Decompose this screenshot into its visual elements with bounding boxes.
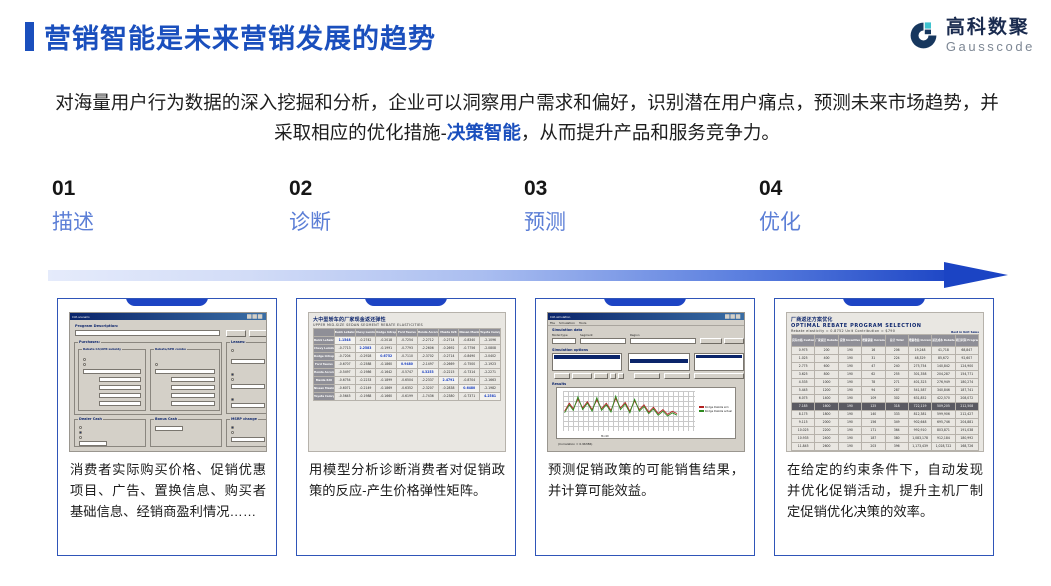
optimization-table-body: 0.9752001901620619,24841,71868,847 1.025…	[792, 347, 979, 453]
opt-cell: 190	[838, 387, 861, 395]
opt-cell: 140,842	[932, 363, 955, 371]
add-button[interactable]	[554, 373, 570, 379]
select-region[interactable]	[630, 338, 696, 344]
opt-cell: 541,587	[908, 387, 931, 395]
opt-cell: 422,570	[932, 395, 955, 403]
card-02-screenshot: 大中型轿车的厂家现金返还弹性 UPPER MID-SIZE SEDAN SEGM…	[308, 312, 506, 452]
opt-cell: 364	[885, 427, 908, 435]
opt-cell: 4.535	[792, 379, 815, 387]
opt-cell: 695,746	[932, 419, 955, 427]
table-row: Mazda 626 -0.6754 -0.2233 -0.1899 -0.650…	[314, 377, 501, 385]
matrix-cell: -0.7371	[459, 393, 480, 401]
opt-col-6: 返还成本 Rebate Cost	[932, 335, 955, 347]
group-purchases-label: Purchases:	[78, 340, 101, 344]
page-title: 营销智能是未来营销发展的趋势	[44, 17, 436, 56]
opt-cell: 187	[862, 435, 885, 443]
matrix-cell: -2.1923	[480, 361, 501, 369]
table-row: 10.0252200190171364992,910803,871191,038	[792, 427, 979, 435]
opt-cell: 92,607	[955, 355, 978, 363]
optimization-table-wrap: 厂商返还方案优化 OPTIMAL REBATE PROGRAM SELECTIO…	[787, 313, 983, 451]
opt-cell: 218	[862, 451, 885, 453]
opt-cell: 812,381	[908, 411, 931, 419]
table-row: 4.535100019078271401,323276,949180,274	[792, 379, 979, 387]
opt-cell: 2200	[815, 427, 838, 435]
opt-cell: 5.445	[792, 387, 815, 395]
opt-cell: 411	[885, 451, 908, 453]
matrix-cell: -0.7254	[397, 337, 418, 345]
opt-cell: 1800	[815, 411, 838, 419]
table-row: 3.62580019062255301,358204,287154,771	[792, 371, 979, 379]
matrix-col-0: Buick LeSabre	[334, 329, 355, 337]
matrix-cell: -0.5747	[397, 369, 418, 377]
opt-cell: 1,173,439	[908, 443, 931, 451]
opt-col-5: 增量收益 Incremental Contribution	[908, 335, 931, 347]
card-01-screenshot: CVA scenario Program Description: Purcha…	[69, 312, 267, 452]
opt-cell: 78	[862, 379, 885, 387]
opt-cell: 302	[885, 395, 908, 403]
group-leases: Leases:	[226, 342, 267, 414]
opt-subtitle: Rebate elasticity = 0.8752 Unit Contribu…	[791, 329, 895, 333]
card-03-caption: 预测促销政策的可能销售结果，并计算可能效益。	[548, 459, 744, 501]
optimization-table: 实际价格 Customer Price 厂家返还 Rebate $ 贷款 Inc…	[791, 334, 979, 452]
matrix-header-row: Buick LeSabre Chevy Lumina Dodge Intrepi…	[314, 329, 501, 337]
opt-cell: 156	[862, 419, 885, 427]
opt-col-2: 贷款 Incentive	[838, 335, 861, 347]
opt-cell: 400	[815, 355, 838, 363]
opt-cell: 340,846	[932, 387, 955, 395]
move-down-button[interactable]	[618, 373, 624, 379]
opt-cell: 190	[838, 443, 861, 451]
opt-cell: 109	[862, 395, 885, 403]
opt-cell: 333	[885, 411, 908, 419]
select-lease-cash[interactable]	[231, 359, 265, 364]
label-simulation-options: Simulation options	[552, 348, 588, 352]
matrix-cell: -0.7314	[459, 369, 480, 377]
opt-cell: 10.025	[792, 427, 815, 435]
list-model-item[interactable]	[630, 364, 688, 367]
table-row: 11.84526001902033961,173,4391,028,722168…	[792, 443, 979, 451]
opt-cell: 255	[885, 371, 908, 379]
opt-cell: 31	[862, 355, 885, 363]
card-02-caption: 用模型分析诊断消费者对促销政策的反应-产生价格弹性矩阵。	[309, 459, 505, 501]
matrix-col-3: Ford Taurus	[397, 329, 418, 337]
list-scenarios[interactable]	[552, 353, 622, 371]
opt-cell: 631,852	[908, 395, 931, 403]
matrix-cell: -2.1663	[480, 377, 501, 385]
title-accent-bar	[25, 22, 34, 51]
select-msrp-value[interactable]	[231, 437, 265, 442]
matrix-cell: -0.6504	[397, 377, 418, 385]
matrix-cell: -0.1869	[376, 385, 397, 393]
select-60mo[interactable]	[99, 401, 141, 406]
opt-cell: 1,151,017	[932, 451, 955, 453]
group-msrp-label: MSRP change	[230, 417, 258, 421]
matrix-cell: -0.2149	[355, 385, 376, 393]
menu-tools[interactable]: Tools	[579, 321, 586, 325]
select-rate-value[interactable]	[231, 384, 265, 389]
matrix-cell: -2.0402	[480, 353, 501, 361]
arrow-head-icon	[944, 262, 1008, 288]
select-segment[interactable]	[580, 338, 626, 344]
select-bonus-cash-amount[interactable]	[155, 426, 183, 431]
move-up-button[interactable]	[610, 373, 616, 379]
select-model-type[interactable]	[552, 338, 576, 344]
select-combo-amount[interactable]	[155, 369, 215, 374]
opt-col-3: 增量销量 Incremental	[862, 335, 885, 347]
matrix-row-label: Honda Accord	[314, 369, 335, 377]
opt-cell: 41,718	[932, 347, 955, 355]
radio-msrp-amount[interactable]	[231, 426, 234, 429]
matrix-cell: -0.1660	[376, 393, 397, 401]
opt-cell: 11.845	[792, 443, 815, 451]
matrix-cell: -1.7436	[417, 393, 438, 401]
matrix-cell: -0.1988	[355, 393, 376, 401]
matrix-cell: -0.8340	[459, 337, 480, 345]
opt-cell: 190	[838, 419, 861, 427]
matrix-cell: -0.8704	[459, 377, 480, 385]
matrix-cell: -0.7713	[334, 345, 355, 353]
arrow-shaft	[48, 270, 960, 281]
card-04-tab	[843, 298, 925, 306]
matrix-cell: -0.1991	[376, 345, 397, 353]
matrix-cell: 2.4791	[438, 377, 459, 385]
brand-logo: 高科数聚 Gausscode	[908, 18, 1035, 53]
table-row: 2.77560019047240275,754140,842124,900	[792, 363, 979, 371]
slide-header: 营销智能是未来营销发展的趋势 高科数聚 Gausscode	[0, 0, 1051, 72]
radio-no-apr-subsidy[interactable]	[83, 363, 86, 366]
radio-money-factor[interactable]	[231, 373, 234, 376]
opt-cell: 154,771	[955, 371, 978, 379]
opt-cell: 125	[862, 403, 885, 411]
matrix-cell: -2.3207	[417, 385, 438, 393]
label-model-type: Model type	[552, 333, 568, 337]
matrix-cell: -0.2215	[438, 369, 459, 377]
table-row: Dodge Intrepid -0.7204 -0.2928 0.6752 -0…	[314, 353, 501, 361]
radio-cash-only[interactable]	[79, 426, 82, 429]
opt-cell: 301,358	[908, 371, 931, 379]
opt-cell: 19,248	[908, 347, 931, 355]
opt-cell: 212,427	[955, 411, 978, 419]
opt-cell: 6.075	[792, 395, 815, 403]
table-row: Toyota Camry -0.5645 -0.1988 -0.1660 -0.…	[314, 393, 501, 401]
opt-cell: 190	[838, 371, 861, 379]
chart-legend: Dodge Dakota sim Dodge Dakota actual	[699, 406, 732, 414]
close-button[interactable]	[249, 330, 267, 337]
elasticity-matrix: Buick LeSabre Chevy Lumina Dodge Intrepi…	[313, 328, 501, 401]
opt-cell: 190	[838, 451, 861, 453]
group-dealer-cash-label: Dealer Cash	[78, 417, 103, 421]
card-03-predict[interactable]: CVA simulation File Simulation Tools Sim…	[535, 298, 755, 556]
table-row: Nissan Maxima -0.6071 -0.2149 -0.1869 -0…	[314, 385, 501, 393]
card-01-caption: 消费者实际购买价格、促销优惠项目、广告、置换信息、购买者基础信息、经销商盈利情况…	[70, 459, 266, 522]
step-02-number: 02	[289, 176, 489, 202]
step-04-label: 优化	[759, 206, 959, 240]
opt-cell: 171	[862, 427, 885, 435]
opt-col-0: 实际价格 Customer Price	[792, 335, 815, 347]
group-dealer-cash: Dealer Cash	[74, 419, 146, 447]
matrix-cell: -2.0808	[480, 345, 501, 353]
matrix-cell: -0.6071	[334, 385, 355, 393]
legend-entry-actual: Dodge Dakota actual	[699, 410, 732, 414]
opt-title-cn: 厂商返还方案优化	[791, 316, 979, 323]
matrix-cell: -2.1497	[417, 361, 438, 369]
matrix-cell: -0.6707	[334, 361, 355, 369]
opt-cell: 204,287	[932, 371, 955, 379]
radio-msrp-percent[interactable]	[231, 431, 234, 434]
matrix-cell: -0.7756	[459, 345, 480, 353]
opt-cell: 800	[815, 371, 838, 379]
card-04-optimize[interactable]: 厂商返还方案优化 OPTIMAL REBATE PROGRAM SELECTIO…	[774, 298, 994, 556]
matrix-cell: -2.3702	[417, 353, 438, 361]
opt-cell: 190	[838, 411, 861, 419]
matrix-cell: -0.1899	[376, 377, 397, 385]
radio-no-rebate[interactable]	[83, 358, 86, 361]
opt-cell: 212,508	[955, 403, 978, 411]
opt-cell: 94	[862, 387, 885, 395]
opt-cell: 509,205	[932, 403, 955, 411]
opt-cell: 1600	[815, 403, 838, 411]
opt-cell: 224	[885, 355, 908, 363]
opt-cell: 271	[885, 379, 908, 387]
step-labels-row: 01 描述 02 诊断 03 预测 04 优化	[52, 176, 1004, 246]
radio-residual-amount[interactable]	[231, 398, 234, 401]
group-purchases: Purchases: Rebate CA/APR subsidy	[74, 342, 222, 415]
table-row: 1.0254001903122448,32985,67292,607	[792, 355, 979, 363]
opt-cell: 190	[838, 427, 861, 435]
matrix-cell: -0.7110	[397, 353, 418, 361]
table-row: 12.75528001902184111,263,7021,151,017112…	[792, 451, 979, 453]
select-combo-24mo[interactable]	[171, 377, 215, 382]
card-01-tab	[126, 298, 208, 306]
opt-cell: 204,881	[955, 419, 978, 427]
opt-cell: 190	[838, 379, 861, 387]
list-model-item-selected[interactable]	[630, 359, 688, 362]
matrix-cell: -0.1860	[376, 361, 397, 369]
save-button[interactable]	[226, 330, 246, 337]
progress-arrow	[48, 262, 1008, 288]
matrix-cell: 0.6480	[459, 385, 480, 393]
table-row: Ford Taurus -0.6707 -0.2588 -0.1860 0.94…	[314, 361, 501, 369]
matrix-corner	[314, 329, 335, 337]
opt-cell: 208,072	[955, 395, 978, 403]
opt-cell: 140	[862, 411, 885, 419]
select-combo-60mo[interactable]	[171, 401, 215, 406]
opt-cell: 62	[862, 371, 885, 379]
opt-cell: 8.175	[792, 411, 815, 419]
window-controls	[725, 314, 740, 319]
set-date-button[interactable]	[700, 338, 722, 344]
matrix-cell: 4.3253	[417, 369, 438, 377]
selected-model-item[interactable]	[696, 355, 742, 358]
opt-cell: 190	[838, 435, 861, 443]
matrix-cell: -0.7500	[459, 361, 480, 369]
logo-text-cn: 高科数聚	[946, 18, 1035, 37]
opt-cell: 203	[862, 443, 885, 451]
menu-file[interactable]: File	[550, 321, 555, 325]
simulation-chart: Dodge Dakota sim Dodge Dakota actual Mon…	[556, 387, 736, 439]
opt-cell: 47	[862, 363, 885, 371]
label-simulation-data: Simulation data	[552, 328, 582, 332]
slide-root: 营销智能是未来营销发展的趋势 高科数聚 Gausscode 对海量用户行为数据的…	[0, 0, 1051, 586]
radio-retail-cash-fin[interactable]	[79, 431, 82, 434]
opt-cell: 180,274	[955, 379, 978, 387]
chart-x-axis-label: Month	[601, 435, 609, 438]
table-row: Chevy Lumina -0.7713 2.2583 -0.1991 -0.7…	[314, 345, 501, 353]
matrix-title-en: UPPER MID-SIZE SEDAN SEGMENT REBATE ELAS…	[313, 323, 501, 327]
list-models[interactable]	[628, 353, 690, 371]
table-row: 6.0751400190109302631,852422,570208,072	[792, 395, 979, 403]
opt-cell: 187,741	[955, 387, 978, 395]
opt-cell: 7.185	[792, 403, 815, 411]
lead-highlight: 决策智能	[447, 122, 521, 143]
window-controls	[247, 314, 262, 319]
elasticity-table-wrap: 大中型轿车的厂家现金返还弹性 UPPER MID-SIZE SEDAN SEGM…	[309, 313, 505, 451]
opt-cell: 1,263,702	[908, 451, 931, 453]
step-04: 04 优化	[759, 176, 959, 240]
opt-cell: 287	[885, 387, 908, 395]
opt-cell: 168,726	[955, 443, 978, 451]
opt-cell: 1400	[815, 395, 838, 403]
opt-cell: 240	[885, 363, 908, 371]
step-03-number: 03	[524, 176, 724, 202]
graph-button[interactable]	[694, 373, 744, 379]
table-row-highlighted: 7.1851600190125318722,119509,205212,508	[792, 403, 979, 411]
matrix-cell: -0.1642	[376, 369, 397, 377]
opt-cell: 68,847	[955, 347, 978, 355]
matrix-cell: -0.6754	[334, 377, 355, 385]
opt-cell: 124,900	[955, 363, 978, 371]
label-segment: Segment	[580, 333, 593, 337]
opt-cell: 85,672	[932, 355, 955, 363]
select-rebate-amount[interactable]	[83, 369, 141, 374]
step-02-label: 诊断	[289, 206, 489, 240]
card-02-tab	[365, 298, 447, 306]
opt-cell: 191,038	[955, 427, 978, 435]
stop-button[interactable]	[724, 338, 744, 344]
list-model-item[interactable]	[630, 368, 688, 371]
label-region: Region	[630, 333, 640, 337]
select-combo-36mo[interactable]	[171, 385, 215, 390]
radio-all-cash-fin-lease[interactable]	[79, 436, 82, 439]
step-03: 03 预测	[524, 176, 724, 240]
opt-cell: 803,871	[932, 427, 955, 435]
label-program-description: Program Description:	[75, 324, 118, 328]
step-01: 01 描述	[52, 176, 252, 240]
matrix-cell: -2.2606	[417, 345, 438, 353]
card-03-tab	[604, 298, 686, 306]
matrix-row-label: Dodge Intrepid	[314, 353, 335, 361]
matrix-cell: -2.2712	[417, 337, 438, 345]
matrix-cell: -0.2742	[355, 337, 376, 345]
opt-cell: 190	[838, 363, 861, 371]
matrix-cell: -0.6352	[397, 385, 418, 393]
opt-col-4: 总计 Total	[885, 335, 908, 347]
opt-cell: 722,119	[908, 403, 931, 411]
group-bonus-cash-label: Bonus Cash	[154, 417, 178, 421]
edit-button[interactable]	[594, 373, 608, 379]
opt-cell: 3.625	[792, 371, 815, 379]
select-48mo[interactable]	[99, 393, 141, 398]
matrix-cell: -0.8490	[459, 353, 480, 361]
radio-no-lease-subsidy[interactable]	[231, 349, 234, 352]
opt-cell: 200	[815, 347, 838, 355]
opt-cell: 48,329	[908, 355, 931, 363]
select-combo-48mo[interactable]	[171, 393, 215, 398]
card-03-screenshot: CVA simulation File Simulation Tools Sim…	[547, 312, 745, 452]
select-residual-value[interactable]	[231, 403, 265, 408]
select-dealer-cash-amount[interactable]	[79, 441, 107, 446]
cards-row: CVA scenario Program Description: Purcha…	[57, 298, 995, 556]
opt-cell: 1,028,722	[932, 443, 955, 451]
list-model-item[interactable]	[630, 355, 688, 358]
matrix-cell: -2.2271	[480, 369, 501, 377]
opt-cell: 275,754	[908, 363, 931, 371]
opt-cell: 396	[885, 443, 908, 451]
step-01-label: 描述	[52, 206, 252, 240]
opt-cell: 349	[885, 419, 908, 427]
opt-cell: 599,906	[932, 411, 955, 419]
matrix-cell: 0.6752	[376, 353, 397, 361]
group-leases-label: Leases:	[230, 340, 246, 344]
opt-cell: 2000	[815, 419, 838, 427]
radio-not-offered[interactable]	[155, 363, 158, 366]
radio-apr[interactable]	[231, 378, 234, 381]
clear-all-button[interactable]	[664, 373, 690, 379]
group-rebate-apr-subsidy: Rebate CA/APR subsidy	[78, 349, 146, 411]
matrix-cell: -2.2337	[417, 377, 438, 385]
select-36mo[interactable]	[99, 385, 141, 390]
matrix-col-4: Honda Accord	[417, 329, 438, 337]
menu-simulation[interactable]: Simulation	[559, 321, 575, 325]
remove-button[interactable]	[572, 373, 592, 379]
group-msrp-change: MSRP change	[226, 419, 267, 447]
matrix-cell: 0.9480	[397, 361, 418, 369]
opt-header-row: 实际价格 Customer Price 厂家返还 Rebate $ 贷款 Inc…	[792, 335, 979, 347]
card-04-caption: 在给定的约束条件下，自动发现并优化促销活动，提升主机厂制定促销优化决策的效率。	[787, 459, 983, 522]
select-all-button[interactable]	[634, 373, 660, 379]
matrix-cell: 1.1548	[334, 337, 355, 345]
matrix-cell: -0.2714	[438, 337, 459, 345]
opt-cell: 2600	[815, 443, 838, 451]
list-selected-models[interactable]	[694, 353, 744, 371]
matrix-cell: -0.2928	[355, 353, 376, 361]
opt-cell: 190	[838, 395, 861, 403]
opt-cell: 10.935	[792, 435, 815, 443]
opt-cell: 9.115	[792, 419, 815, 427]
matrix-cell: -0.2018	[376, 337, 397, 345]
card-04-screenshot: 厂商返还方案优化 OPTIMAL REBATE PROGRAM SELECTIO…	[786, 312, 984, 452]
program-description-input[interactable]	[75, 330, 220, 336]
lead-text-part2: ，从而提升产品和服务竞争力。	[521, 122, 780, 143]
matrix-cell: -0.5645	[334, 393, 355, 401]
matrix-row-label: Buick LeSabre	[314, 337, 335, 345]
matrix-cell: -2.1096	[480, 337, 501, 345]
step-03-label: 预测	[524, 206, 724, 240]
opt-cell: 190	[838, 355, 861, 363]
matrix-cell: -0.2714	[438, 353, 459, 361]
opt-cell: 1,083,178	[908, 435, 931, 443]
opt-cell: 206	[885, 347, 908, 355]
card-01-describe[interactable]: CVA scenario Program Description: Purcha…	[57, 298, 277, 556]
sim-title: CVA simulation	[550, 315, 570, 319]
table-row: 5.445120019094287541,587340,846187,741	[792, 387, 979, 395]
select-24mo[interactable]	[99, 377, 141, 382]
matrix-cell: -0.7793	[397, 345, 418, 353]
card-02-diagnose[interactable]: 大中型轿车的厂家现金返还弹性 UPPER MID-SIZE SEDAN SEGM…	[296, 298, 516, 556]
opt-cell: 912,184	[932, 435, 955, 443]
group-rebate-apr-label: Rebate CA/APR subsidy	[82, 347, 122, 351]
dialog-titlebar: CVA scenario	[70, 313, 266, 320]
